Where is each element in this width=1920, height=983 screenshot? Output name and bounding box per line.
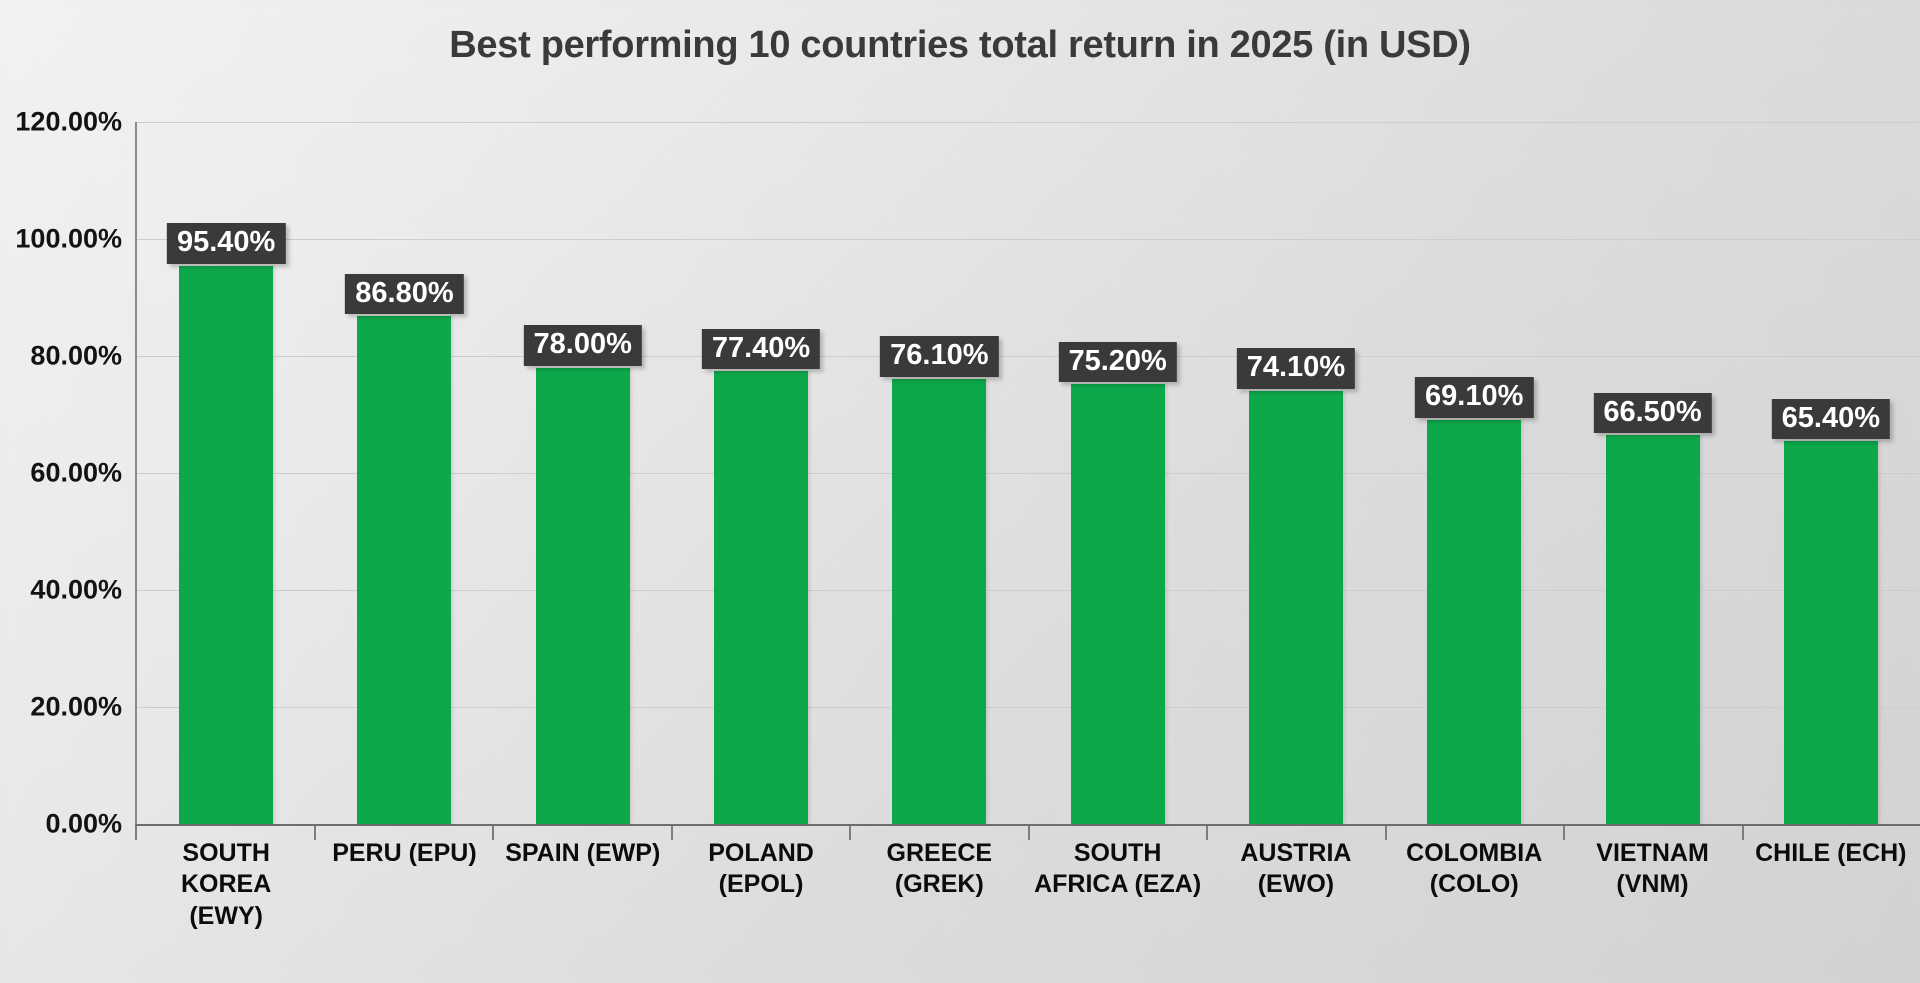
bar-slot: 66.50% — [1563, 122, 1741, 824]
bar-value-label: 69.10% — [1415, 377, 1533, 417]
bar[interactable]: 65.40% — [1784, 441, 1878, 824]
bar[interactable]: 78.00% — [536, 368, 630, 824]
x-axis-category-labels: SOUTH KOREA(EWY)PERU (EPU)SPAIN (EWP)POL… — [137, 838, 1920, 932]
bar-value-label: 74.10% — [1237, 348, 1355, 388]
bar-series: 95.40%86.80%78.00%77.40%76.10%75.20%74.1… — [137, 122, 1920, 824]
category-line-1: AUSTRIA — [1240, 839, 1351, 867]
category-line-1: PERU (EPU) — [332, 839, 476, 867]
bar-slot: 76.10% — [850, 122, 1028, 824]
x-axis-category-label: SOUTHAFRICA (EZA) — [1028, 838, 1206, 932]
y-axis-tick-label: 60.00% — [0, 458, 122, 489]
bar-slot: 78.00% — [494, 122, 672, 824]
category-line-2: (COLO) — [1389, 869, 1559, 900]
bar-slot: 75.20% — [1028, 122, 1206, 824]
bar-value-label: 77.40% — [702, 329, 820, 369]
category-line-2: (GREK) — [854, 869, 1024, 900]
category-line-1: CHILE (ECH) — [1755, 839, 1906, 867]
bar-slot: 86.80% — [315, 122, 493, 824]
x-axis-category-label: POLAND(EPOL) — [672, 838, 850, 932]
x-axis-category-label: SPAIN (EWP) — [494, 838, 672, 932]
category-line-1: SOUTH — [1074, 839, 1162, 867]
bar[interactable]: 74.10% — [1249, 391, 1343, 824]
category-line-1: SOUTH KOREA — [181, 839, 271, 898]
x-axis-category-label: SOUTH KOREA(EWY) — [137, 838, 315, 932]
bar[interactable]: 77.40% — [714, 371, 808, 824]
bar[interactable]: 76.10% — [892, 379, 986, 824]
category-line-1: VIETNAM — [1596, 839, 1709, 867]
bar-value-label: 78.00% — [524, 325, 642, 365]
bar-slot: 95.40% — [137, 122, 315, 824]
bar[interactable]: 69.10% — [1427, 420, 1521, 824]
x-axis-category-label: COLOMBIA(COLO) — [1385, 838, 1563, 932]
category-line-1: POLAND — [708, 839, 814, 867]
bar-value-label: 76.10% — [880, 336, 998, 376]
bar-value-label: 66.50% — [1593, 393, 1711, 433]
bar-value-label: 86.80% — [345, 274, 463, 314]
bar[interactable]: 75.20% — [1071, 384, 1165, 824]
x-axis-category-label: GREECE(GREK) — [850, 838, 1028, 932]
bar-value-label: 95.40% — [167, 223, 285, 263]
bar[interactable]: 66.50% — [1606, 435, 1700, 824]
bar-slot: 65.40% — [1742, 122, 1920, 824]
y-axis-tick-label: 80.00% — [0, 341, 122, 372]
bar[interactable]: 95.40% — [179, 266, 273, 824]
x-axis-category-label: PERU (EPU) — [315, 838, 493, 932]
y-axis-tick-label: 0.00% — [0, 809, 122, 840]
x-axis-category-label: CHILE (ECH) — [1742, 838, 1920, 932]
bar-slot: 74.10% — [1207, 122, 1385, 824]
bar-value-label: 65.40% — [1772, 399, 1890, 439]
category-line-1: COLOMBIA — [1406, 839, 1542, 867]
category-line-2: (VNM) — [1567, 869, 1737, 900]
x-axis-category-label: VIETNAM(VNM) — [1563, 838, 1741, 932]
bar[interactable]: 86.80% — [357, 316, 451, 824]
category-line-2: (EWO) — [1211, 869, 1381, 900]
category-line-2: (EWY) — [141, 901, 311, 932]
category-line-2: (EPOL) — [676, 869, 846, 900]
bar-slot: 77.40% — [672, 122, 850, 824]
y-axis-tick-label: 100.00% — [0, 224, 122, 255]
bar-slot: 69.10% — [1385, 122, 1563, 824]
category-line-1: SPAIN (EWP) — [505, 839, 660, 867]
bar-value-label: 75.20% — [1058, 342, 1176, 382]
x-axis-category-label: AUSTRIA(EWO) — [1207, 838, 1385, 932]
y-axis-tick-label: 120.00% — [0, 107, 122, 138]
category-line-2: AFRICA (EZA) — [1032, 869, 1202, 900]
y-axis-tick-label: 20.00% — [0, 692, 122, 723]
category-line-1: GREECE — [887, 839, 993, 867]
page-title: Best performing 10 countries total retur… — [0, 24, 1920, 67]
y-axis-tick-label: 40.00% — [0, 575, 122, 606]
